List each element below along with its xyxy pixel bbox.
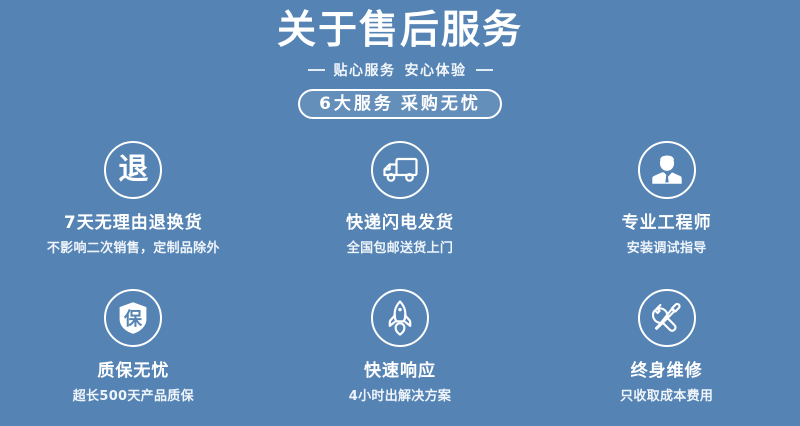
service-title: 质保无忧 [97, 362, 169, 381]
rocket-icon [371, 289, 429, 347]
service-subtitle: 只收取成本费用 [620, 390, 713, 404]
badge-part-2: 采购无忧 [401, 94, 481, 114]
subtitle-part-1: 贴心服务 [334, 63, 396, 79]
service-subtitle: 不影响二次销售，定制品除外 [47, 242, 220, 256]
subtitle-text: 贴心服务安心体验 [334, 60, 467, 80]
subtitle-row: 贴心服务安心体验 [0, 59, 800, 81]
right-dash-icon [476, 69, 493, 71]
warranty-shield-icon: 保 [104, 289, 162, 347]
subtitle-part-2: 安心体验 [405, 63, 467, 79]
service-title: 快递闪电发货 [346, 214, 454, 233]
warranty-glyph: 保 [123, 308, 143, 330]
service-title: 7天无理由退换货 [64, 214, 203, 233]
service-subtitle: 全国包邮送货上门 [347, 242, 453, 256]
banner-header: 关于售后服务 贴心服务安心体验 6大服务采购无忧 [0, 0, 800, 130]
service-title: 专业工程师 [622, 214, 712, 233]
return-circle-icon: 退 [104, 141, 162, 199]
wrench-screwdriver-icon [638, 289, 696, 347]
page-title: 关于售后服务 [0, 0, 800, 53]
badge-part-1: 6大服务 [319, 94, 394, 114]
service-item-delivery[interactable]: 快递闪电发货 全国包邮送货上门 [267, 130, 534, 278]
service-badge-text: 6大服务采购无忧 [319, 96, 481, 113]
after-sales-service-banner: 关于售后服务 贴心服务安心体验 6大服务采购无忧 退 7天无理由退换货 不影响二… [0, 0, 800, 426]
service-subtitle: 安装调试指导 [627, 242, 707, 256]
left-dash-icon [308, 69, 325, 71]
service-item-engineer[interactable]: 专业工程师 安装调试指导 [533, 130, 800, 278]
service-subtitle: 4小时出解决方案 [349, 390, 451, 404]
service-item-repair[interactable]: 终身维修 只收取成本费用 [533, 278, 800, 426]
service-badge: 6大服务采购无忧 [298, 89, 502, 119]
service-item-response[interactable]: 快速响应 4小时出解决方案 [267, 278, 534, 426]
delivery-truck-icon [371, 141, 429, 199]
service-item-warranty[interactable]: 保 质保无忧 超长500天产品质保 [0, 278, 267, 426]
service-item-return[interactable]: 退 7天无理由退换货 不影响二次销售，定制品除外 [0, 130, 267, 278]
return-glyph: 退 [118, 155, 148, 185]
services-grid: 退 7天无理由退换货 不影响二次销售，定制品除外 快递闪电发货 全国包邮送货上门 [0, 130, 800, 426]
service-title: 快速响应 [364, 362, 436, 381]
service-title: 终身维修 [631, 362, 703, 381]
engineer-person-icon [638, 141, 696, 199]
service-subtitle: 超长500天产品质保 [73, 390, 194, 404]
